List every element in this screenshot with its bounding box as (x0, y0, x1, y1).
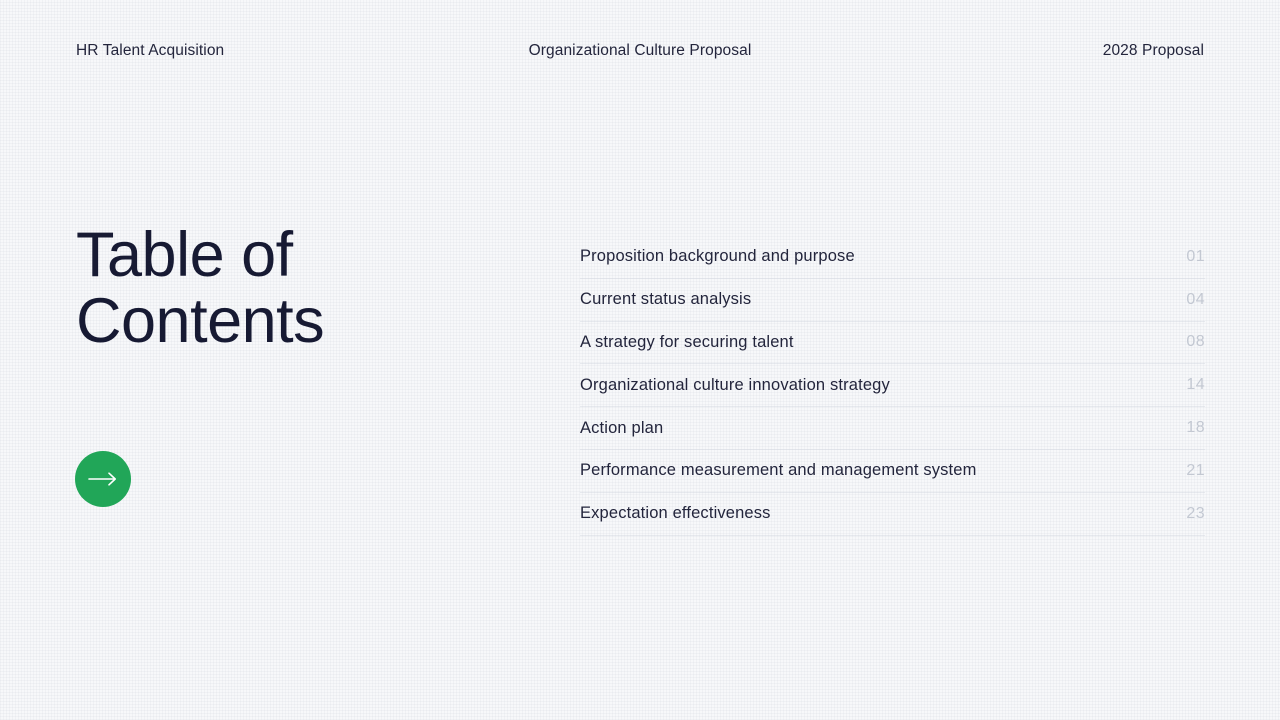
title-block: Table of Contents (76, 222, 546, 354)
arrow-right-icon (88, 471, 118, 487)
page-title: Table of Contents (76, 222, 546, 354)
toc-item-page: 21 (1179, 462, 1205, 480)
toc-item-label: A strategy for securing talent (580, 333, 794, 352)
header-center-label: Organizational Culture Proposal (529, 42, 752, 60)
toc-item-label: Current status analysis (580, 290, 751, 309)
toc-item-label: Action plan (580, 419, 663, 438)
toc-item[interactable]: Performance measurement and management s… (580, 450, 1205, 493)
toc-item[interactable]: A strategy for securing talent 08 (580, 322, 1205, 365)
toc-item-page: 01 (1179, 248, 1205, 266)
header-right-label: 2028 Proposal (1103, 42, 1204, 60)
toc-item[interactable]: Expectation effectiveness 23 (580, 493, 1205, 536)
toc-item-page: 23 (1179, 505, 1205, 523)
toc-item-label: Expectation effectiveness (580, 504, 771, 523)
toc-item-label: Proposition background and purpose (580, 247, 855, 266)
table-of-contents: Proposition background and purpose 01 Cu… (580, 236, 1205, 536)
toc-item-label: Performance measurement and management s… (580, 461, 977, 480)
slide-header: HR Talent Acquisition Organizational Cul… (76, 38, 1204, 64)
toc-item[interactable]: Action plan 18 (580, 407, 1205, 450)
toc-item-page: 04 (1179, 291, 1205, 309)
toc-item-page: 14 (1179, 376, 1205, 394)
slide-canvas: HR Talent Acquisition Organizational Cul… (0, 0, 1280, 720)
toc-item[interactable]: Organizational culture innovation strate… (580, 364, 1205, 407)
toc-item-page: 08 (1179, 333, 1205, 351)
toc-item[interactable]: Proposition background and purpose 01 (580, 236, 1205, 279)
header-left-label: HR Talent Acquisition (76, 42, 224, 60)
next-slide-button[interactable] (75, 451, 131, 507)
toc-item-page: 18 (1179, 419, 1205, 437)
toc-item-label: Organizational culture innovation strate… (580, 376, 890, 395)
toc-item[interactable]: Current status analysis 04 (580, 279, 1205, 322)
